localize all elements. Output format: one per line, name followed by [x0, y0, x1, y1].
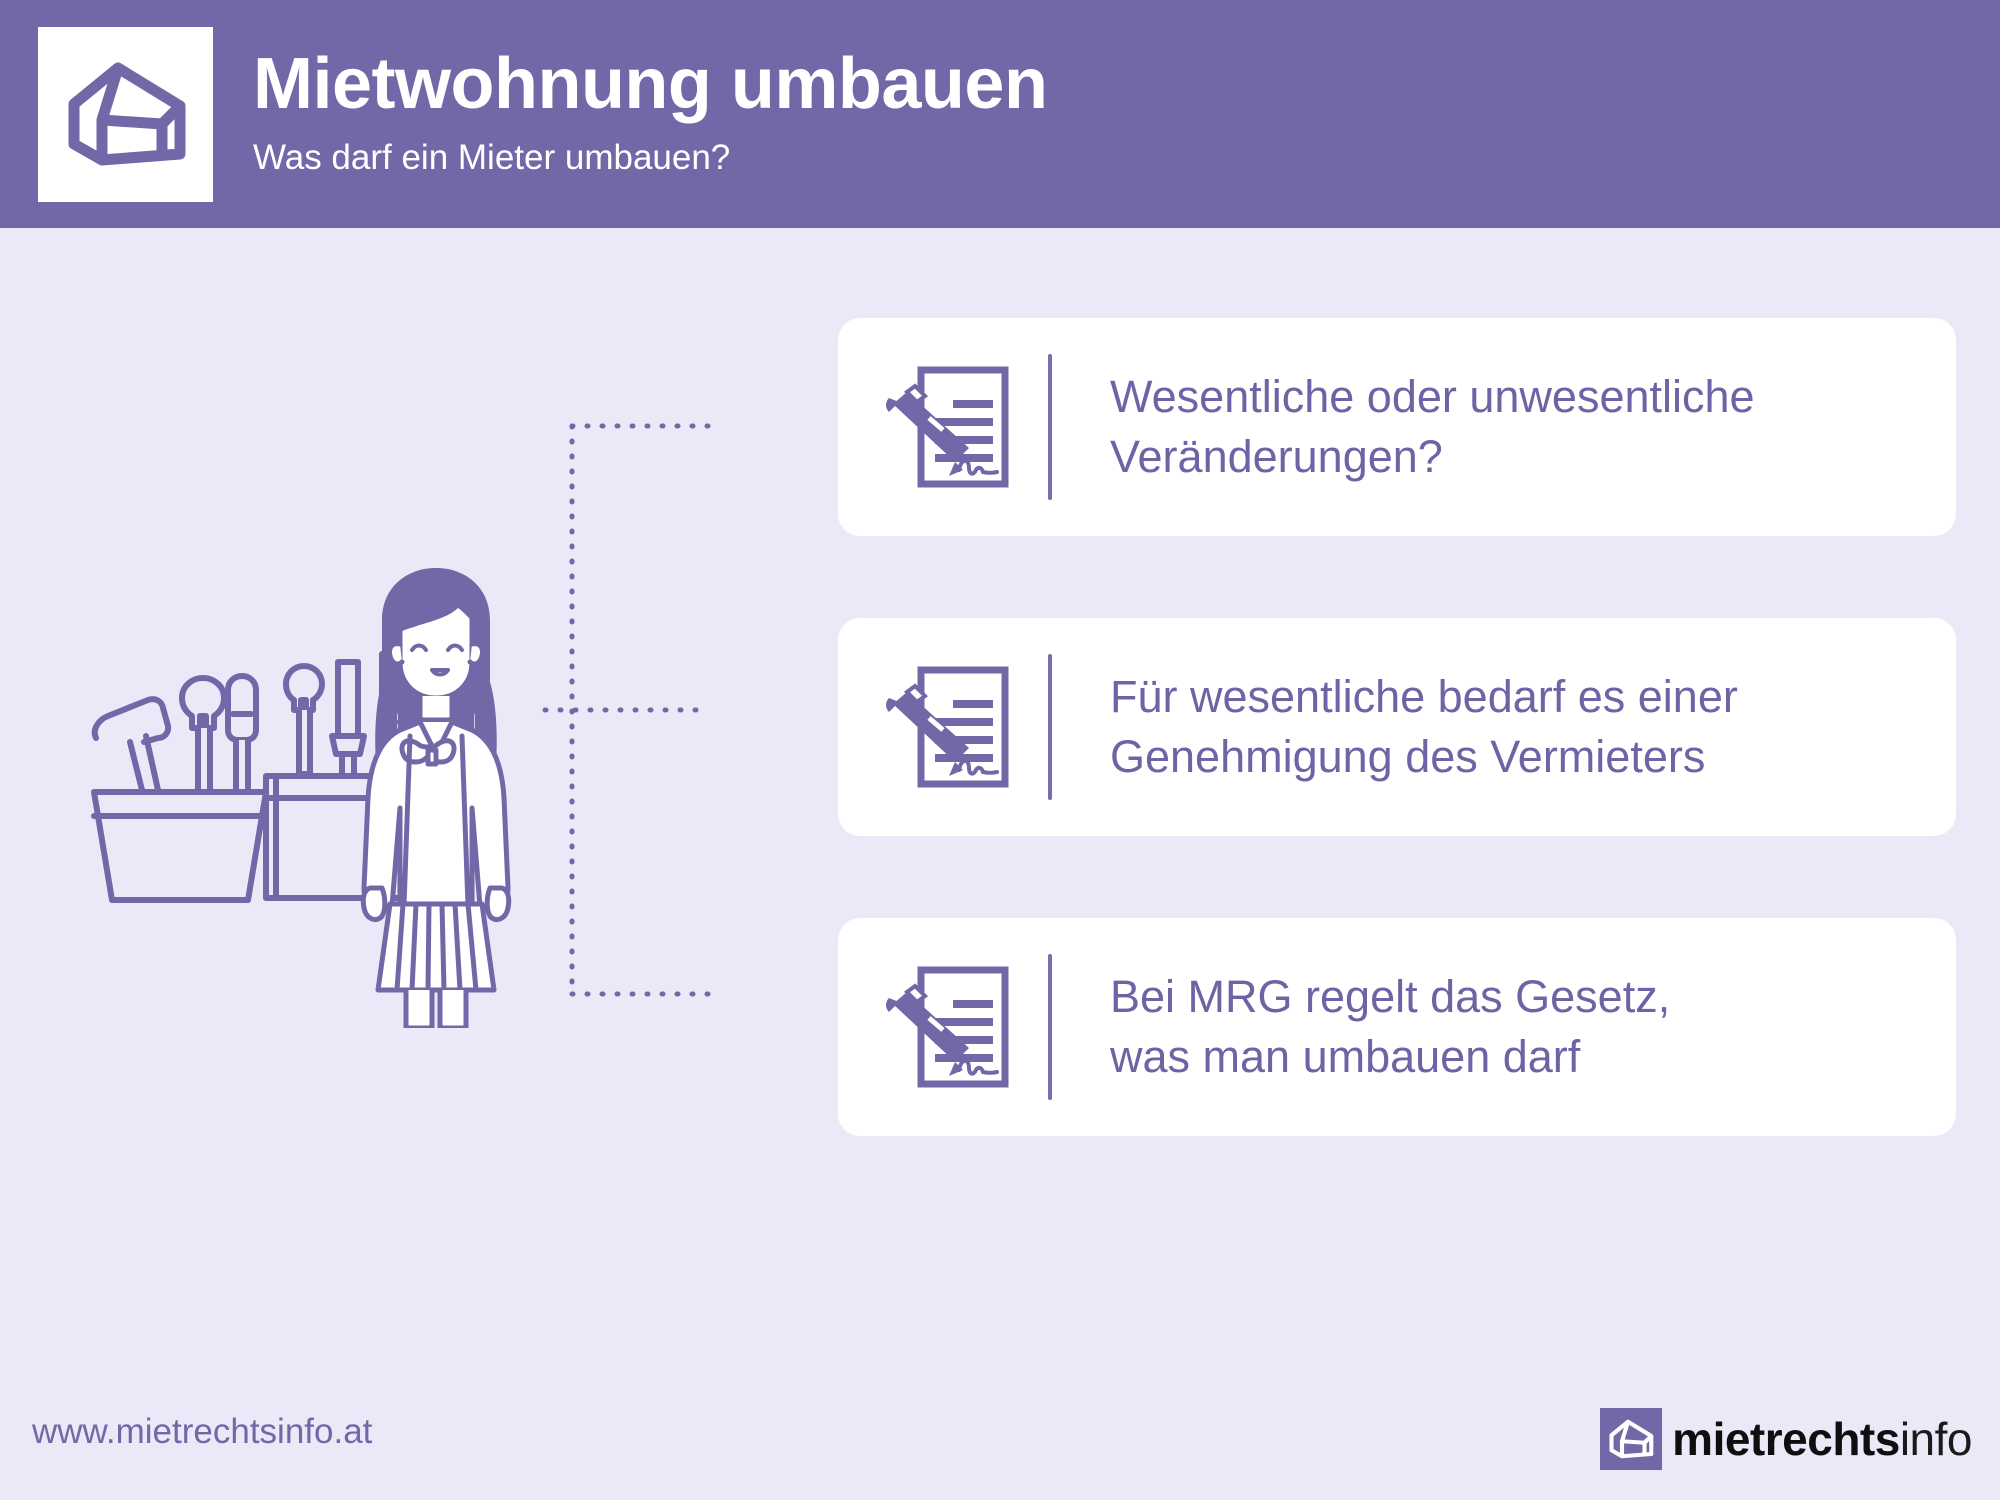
illustration-group — [70, 558, 550, 1028]
header-logo — [38, 27, 213, 202]
contract-signature-icon — [866, 352, 1038, 502]
info-card-label: Für wesentliche bedarf es einer Genehmig… — [1110, 667, 1758, 787]
toolbox-with-tools-illustration — [94, 676, 266, 900]
footer-logo-wordmark: mietrechtsinfo — [1672, 1416, 1972, 1462]
contract-signature-icon — [866, 952, 1038, 1102]
info-card-label: Wesentliche oder unwesentliche Veränderu… — [1110, 367, 1775, 487]
footer-logo-text-strong: mietrechts — [1672, 1413, 1900, 1465]
card-divider — [1048, 954, 1052, 1100]
info-card[interactable]: Für wesentliche bedarf es einer Genehmig… — [838, 618, 1956, 836]
header-bar: Mietwohnung umbauen Was darf ein Mieter … — [0, 0, 2000, 228]
infographic-body: Wesentliche oder unwesentliche Veränderu… — [0, 228, 2000, 1500]
connector-lines — [540, 358, 880, 1078]
contract-signature-icon — [866, 652, 1038, 802]
footer-logo[interactable]: mietrechtsinfo — [1600, 1408, 1972, 1470]
info-card[interactable]: Bei MRG regelt das Gesetz, was man umbau… — [838, 918, 1956, 1136]
standing-woman-illustration — [363, 568, 509, 1028]
page-subtitle: Was darf ein Mieter umbauen? — [253, 140, 1047, 175]
card-divider — [1048, 654, 1052, 800]
house-outline-icon — [1600, 1408, 1662, 1470]
page-title: Mietwohnung umbauen — [253, 48, 1047, 120]
info-card[interactable]: Wesentliche oder unwesentliche Veränderu… — [838, 318, 1956, 536]
info-card-label: Bei MRG regelt das Gesetz, was man umbau… — [1110, 967, 1690, 1087]
header-title-group: Mietwohnung umbauen Was darf ein Mieter … — [253, 48, 1047, 181]
house-outline-icon — [62, 58, 190, 170]
footer-logo-text-light: info — [1900, 1413, 1972, 1465]
footer-website-url[interactable]: www.mietrechtsinfo.at — [32, 1414, 372, 1449]
card-divider — [1048, 354, 1052, 500]
